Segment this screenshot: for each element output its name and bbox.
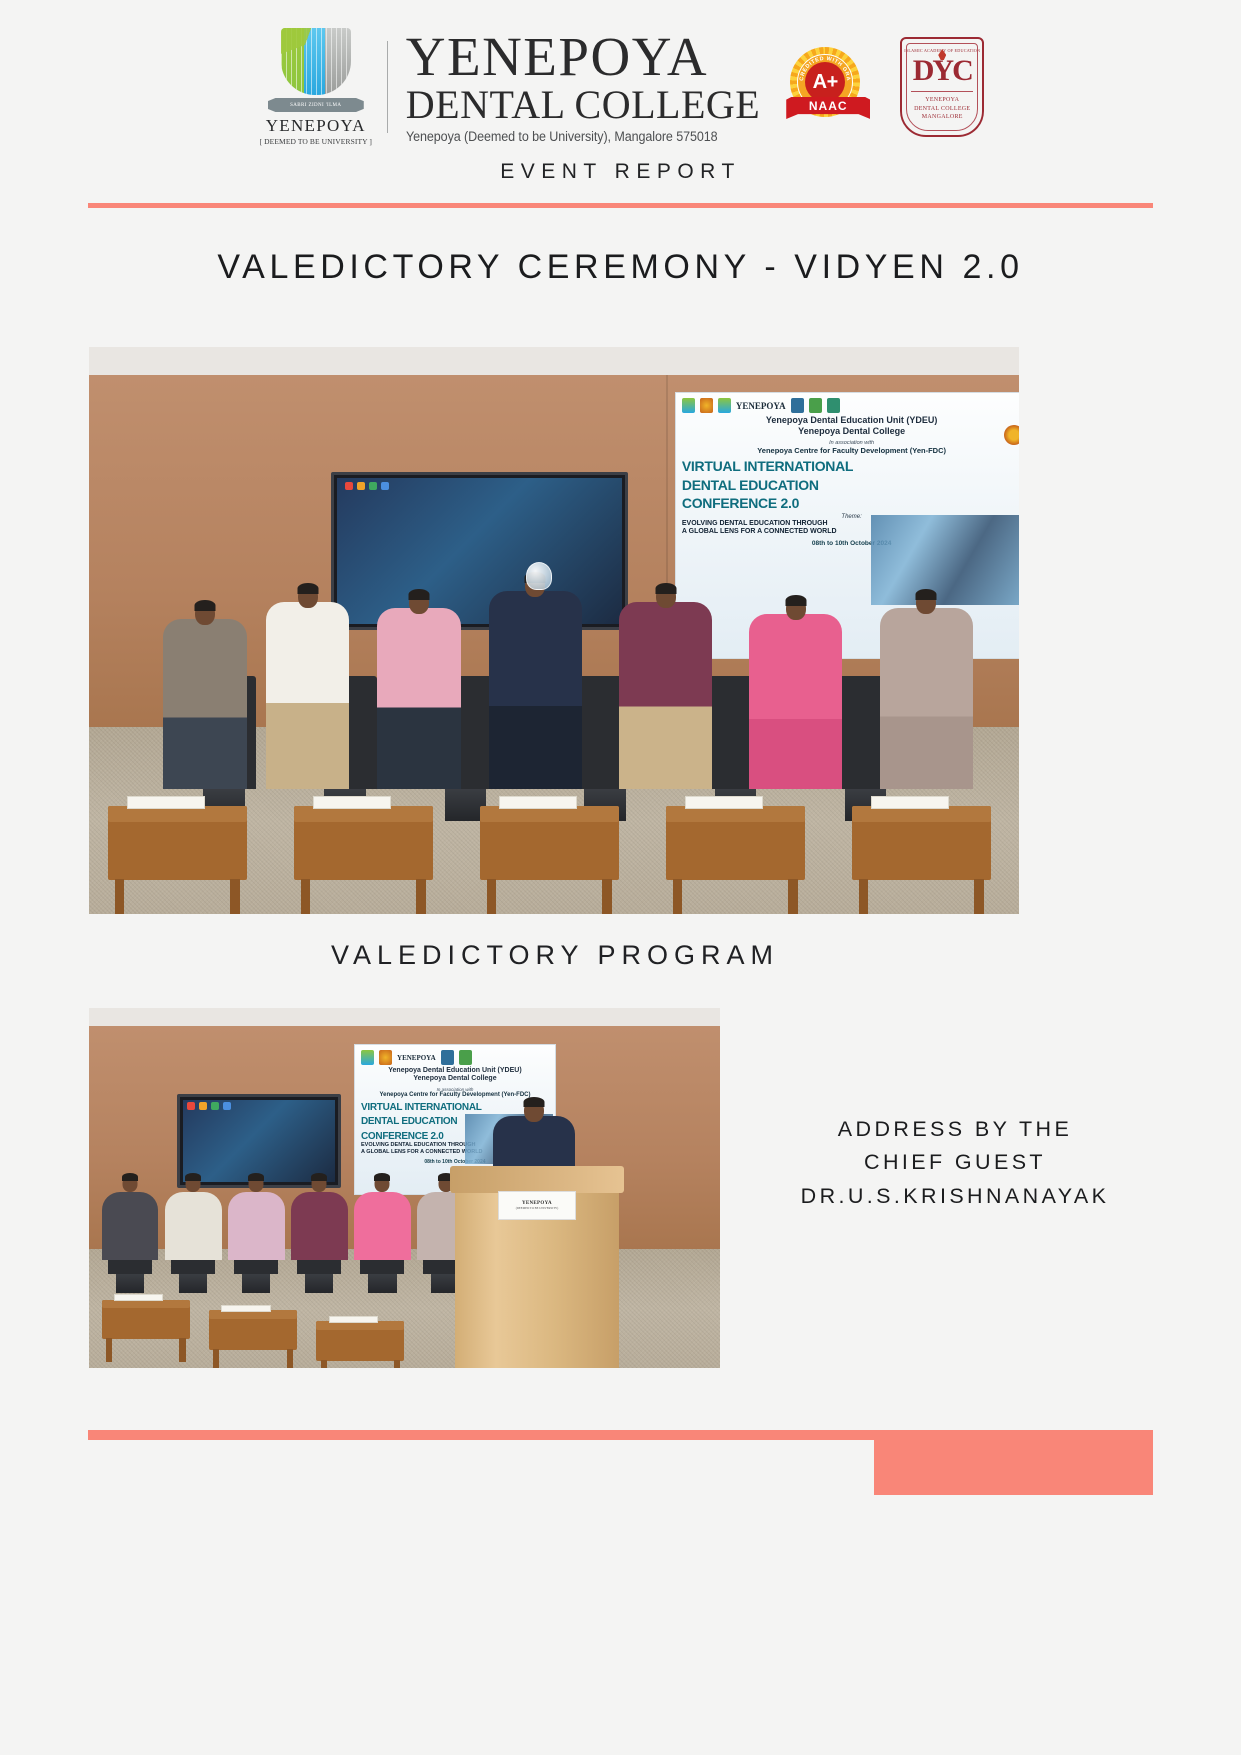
shield-icon [281,28,351,95]
event-report-page: SABRI ZIDNI 'ILMA YENEPOYA [ DEEMED TO B… [0,0,1241,1755]
banner-org-line-1: Yenepoya Dental Education Unit (YDEU) [355,1067,555,1075]
banner-org-line-2: Yenepoya Dental College [355,1075,555,1083]
banner-title-line-3: CONFERENCE 2.0 [676,496,1019,511]
banner-org-line-2: Yenepoya Dental College [676,426,1019,437]
photo-2-caption-line-3: DR.U.S.KRISHNANAYAK [740,1180,1170,1213]
dyc-divider [911,91,973,92]
header-divider [387,41,388,133]
photo-2-caption-line-1: ADDRESS BY THE [740,1113,1170,1146]
attendee-figure [266,602,350,789]
wordmark-line-1: YENEPOYA [406,30,708,83]
photo-valedictory-ceremony: YENEPOYA Yenepoya Dental Education Unit … [89,347,1019,914]
photo-2-caption: ADDRESS BY THE CHIEF GUEST DR.U.S.KRISHN… [740,1113,1170,1213]
seated-attendee-figure [165,1192,222,1260]
attendee-figure [880,608,973,789]
memento-award-icon [526,562,552,590]
dignitary-figure [619,602,712,789]
presentation-screen [331,472,629,631]
photo-chief-guest-address: YENEPOYA Yenepoya Dental Education Unit … [89,1008,720,1368]
seated-attendee-figure [291,1192,348,1260]
speaking-podium: YENEPOYA (DEEMED TO BE UNIVERSITY) [455,1174,619,1368]
photo-2-caption-line-2: CHIEF GUEST [740,1146,1170,1179]
podium-name-plate: YENEPOYA (DEEMED TO BE UNIVERSITY) [498,1191,577,1220]
crest-designation: [ DEEMED TO BE UNIVERSITY ] [260,137,372,146]
banner-photo-collage [871,515,1019,605]
banner-brand: YENEPOYA [736,401,786,411]
banner-title-line-1: VIRTUAL INTERNATIONAL [676,459,1019,474]
photo-1-caption: VALEDICTORY PROGRAM [0,940,1110,971]
document-header: SABRI ZIDNI 'ILMA YENEPOYA [ DEEMED TO B… [0,28,1241,146]
naac-accreditation-badge-icon: ACCREDITED WITH GRADE A+ NAAC [786,45,870,129]
banner-org-line-1: Yenepoya Dental Education Unit (YDEU) [676,415,1019,426]
attendee-figure [377,608,461,789]
dyc-monogram: DYC [913,56,972,86]
banner-logo-row: YENEPOYA [676,393,1019,415]
banner-assoc-line: Yenepoya Centre for Faculty Development … [676,446,1019,455]
college-wordmark: YENEPOYA DENTAL COLLEGE Yenepoya (Deemed… [406,30,760,143]
dyc-line-2: DENTAL COLLEGE [914,105,970,114]
crest-institution-name: YENEPOYA [266,116,366,136]
banner-logo-row: YENEPOYA [355,1045,555,1067]
yenepoya-university-crest-logo: SABRI ZIDNI 'ILMA YENEPOYA [ DEEMED TO B… [257,28,375,146]
naac-grade-circle: A+ [805,62,845,102]
naac-agency-label: NAAC [809,99,848,113]
header-accent-rule [88,203,1153,208]
podium-plate-sub: (DEEMED TO BE UNIVERSITY) [516,1206,558,1210]
page-title: VALEDICTORY CEREMONY - VIDYEN 2.0 [0,248,1241,287]
seated-attendee-figure [228,1192,285,1260]
dyc-line-3: MANGALORE [914,113,970,122]
banner-seal-icon [1004,425,1019,445]
chief-guest-figure [489,591,582,789]
crest-motto-text: SABRI ZIDNI 'ILMA [290,103,341,108]
wordmark-address: Yenepoya (Deemed to be University), Mang… [406,129,718,144]
event-report-kicker: EVENT REPORT [0,160,1241,184]
banner-title-line-2: DENTAL EDUCATION [676,478,1019,493]
crest-motto-ribbon: SABRI ZIDNI 'ILMA [268,98,364,112]
footer-accent-block [874,1430,1153,1495]
seated-attendee-figure [102,1192,159,1260]
dyc-college-crest-logo: ISLAMIC ACADEMY OF EDUCATION DYC YENEPOY… [900,37,984,137]
naac-grade-label: A+ [813,71,838,94]
attendee-figure [163,619,247,789]
seated-attendee-figure [354,1192,411,1260]
banner-brand: YENEPOYA [397,1054,436,1062]
attendee-figure [749,614,842,790]
dyc-line-1: YENEPOYA [914,96,970,105]
wordmark-line-2: DENTAL COLLEGE [406,84,760,126]
